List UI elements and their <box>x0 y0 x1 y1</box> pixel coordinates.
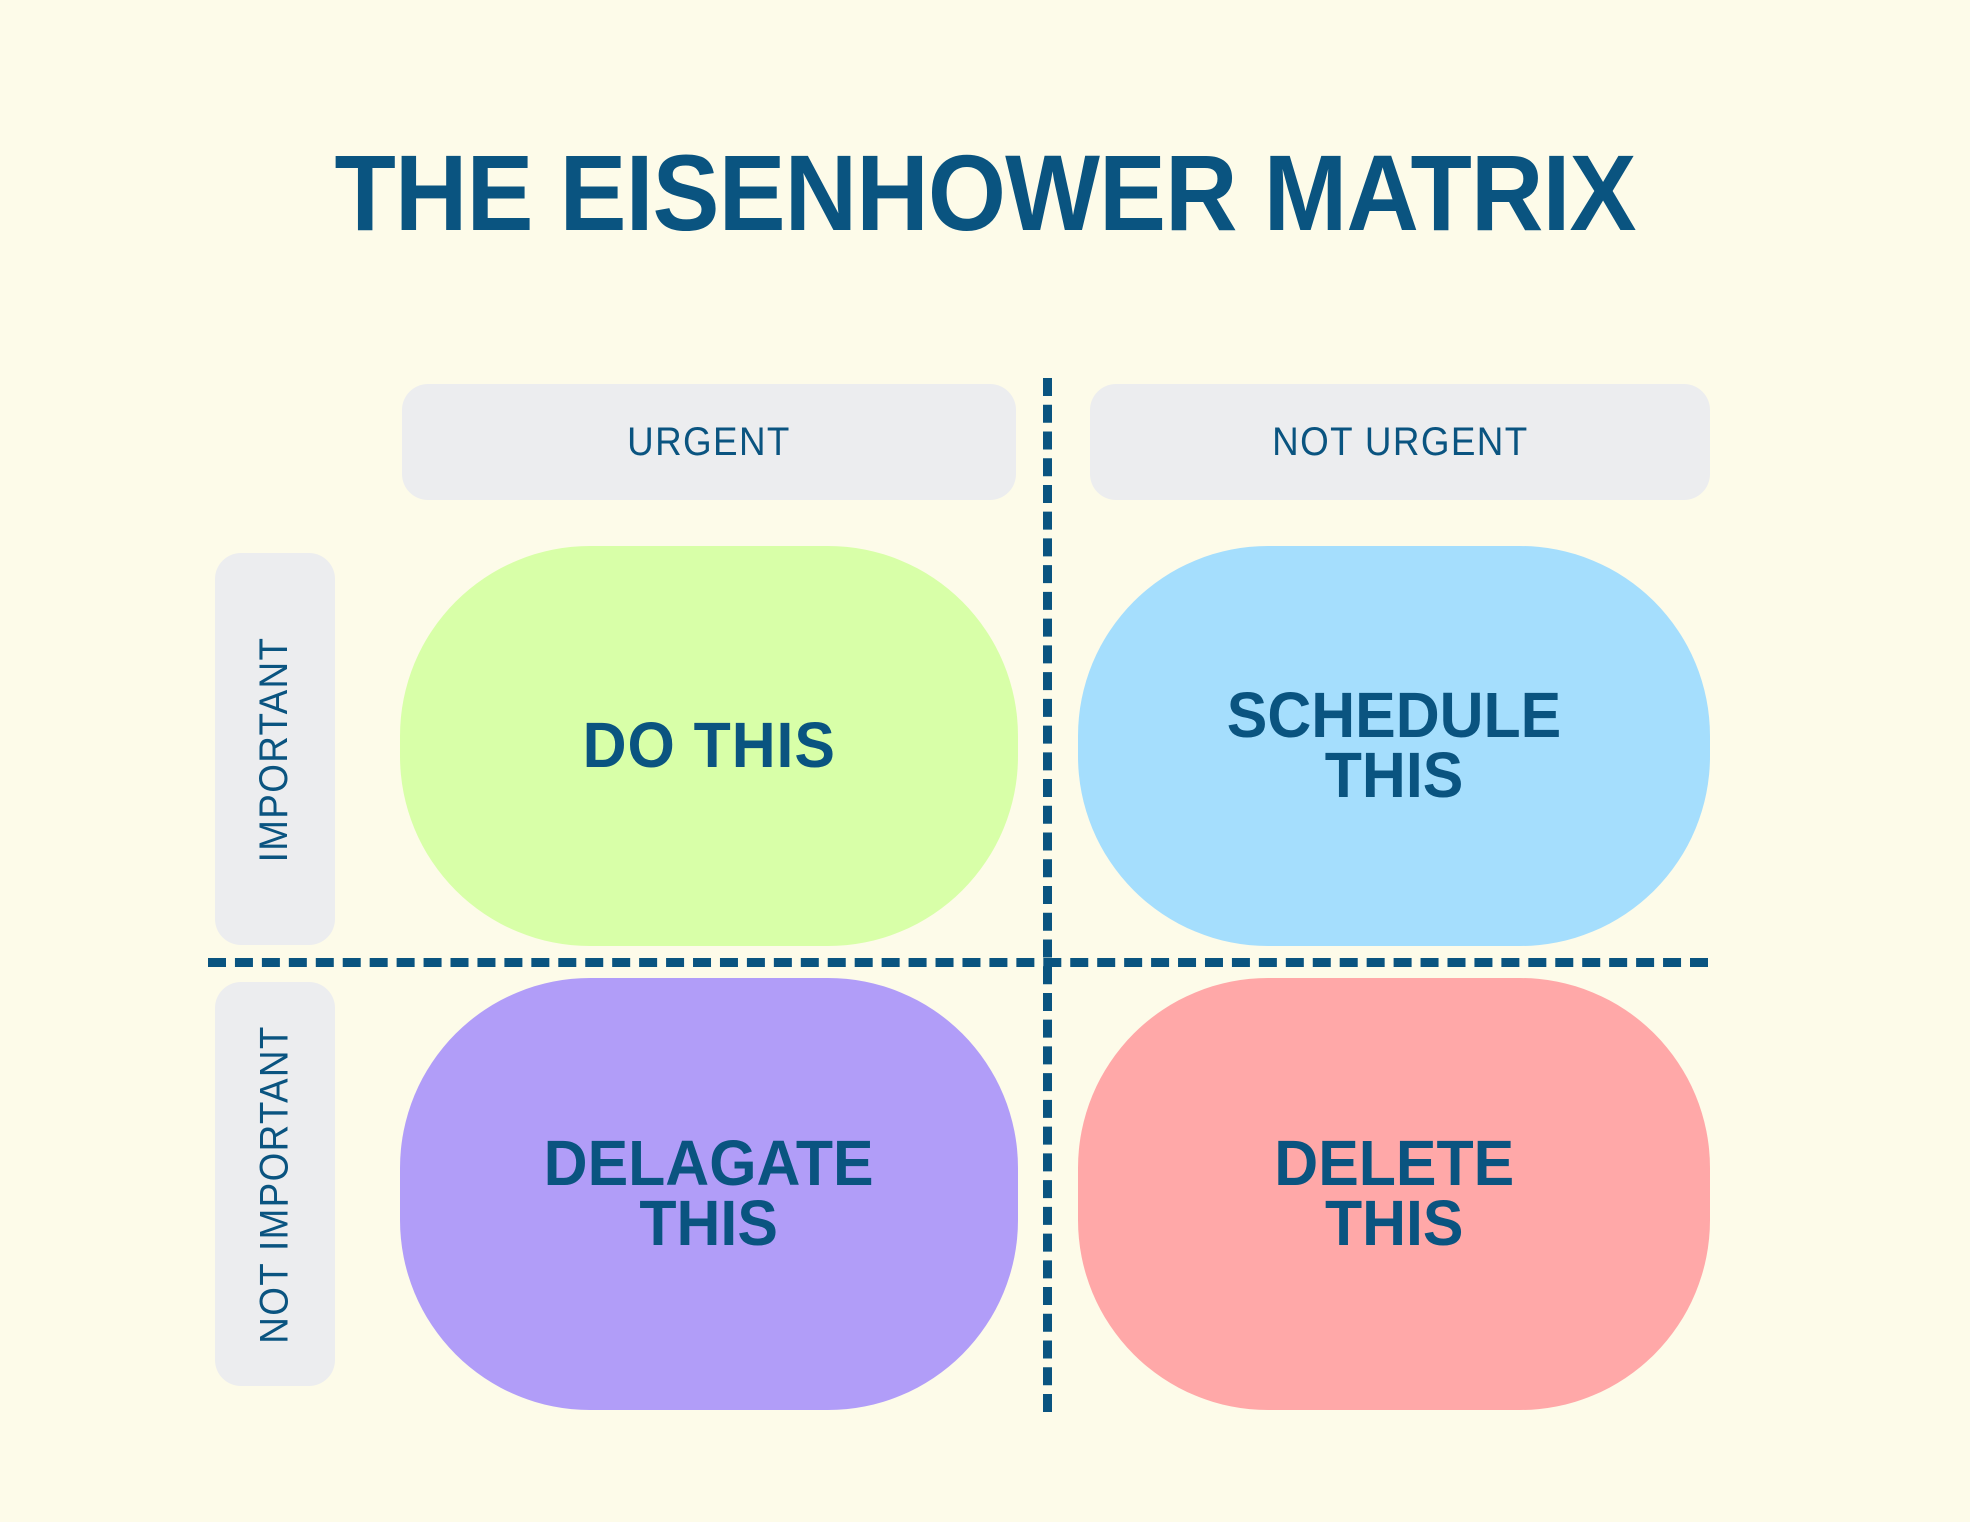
column-header-urgent: URGENT <box>402 384 1016 500</box>
quadrant-do-this: DO THIS <box>400 546 1018 946</box>
horizontal-dashed-divider <box>208 958 1708 967</box>
row-header-important-label: IMPORTANT <box>253 636 298 862</box>
row-header-not-important-label: NOT IMPORTANT <box>253 1025 298 1343</box>
column-header-not-urgent: NOT URGENT <box>1090 384 1710 500</box>
quadrant-delete-this: DELETE THIS <box>1078 978 1710 1410</box>
quadrant-delegate-this-label: DELAGATE THIS <box>544 1134 874 1253</box>
vertical-dashed-divider <box>1043 378 1052 1412</box>
column-header-not-urgent-label: NOT URGENT <box>1272 420 1528 465</box>
quadrant-delete-this-label: DELETE THIS <box>1274 1134 1514 1253</box>
quadrant-do-this-label: DO THIS <box>582 716 835 776</box>
quadrant-delegate-this: DELAGATE THIS <box>400 978 1018 1410</box>
row-header-not-important: NOT IMPORTANT <box>215 982 335 1386</box>
quadrant-schedule-this-label: SCHEDULE THIS <box>1227 686 1561 805</box>
eisenhower-matrix-page: THE EISENHOWER MATRIX URGENT NOT URGENT … <box>0 0 1970 1522</box>
row-header-important: IMPORTANT <box>215 553 335 945</box>
column-header-urgent-label: URGENT <box>627 420 791 465</box>
page-title: THE EISENHOWER MATRIX <box>69 136 1901 249</box>
quadrant-schedule-this: SCHEDULE THIS <box>1078 546 1710 946</box>
